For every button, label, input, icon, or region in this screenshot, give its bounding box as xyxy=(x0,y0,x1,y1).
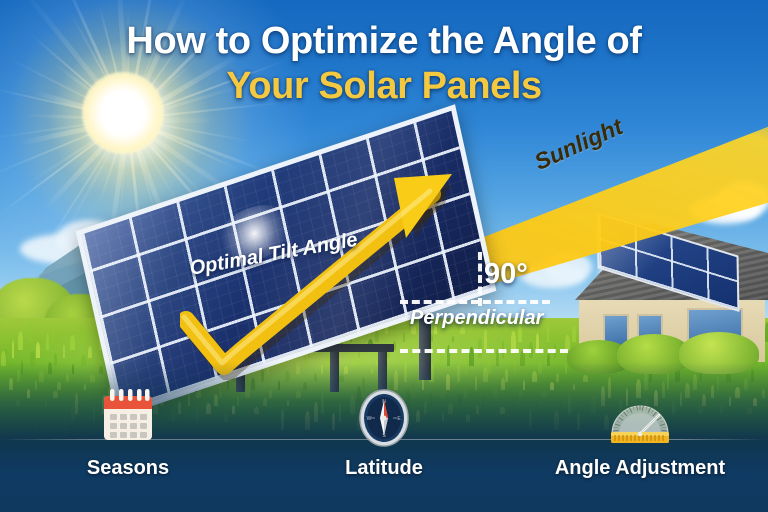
vertical-dashed-line xyxy=(478,252,482,306)
calendar-icon xyxy=(95,388,161,448)
svg-text:W: W xyxy=(367,416,372,422)
horizontal-dashed-line-upper xyxy=(400,300,550,304)
perpendicular-label: Perpendicular xyxy=(410,307,543,330)
title-line-2: Your Solar Panels xyxy=(0,67,768,107)
feature-label: Seasons xyxy=(87,457,169,480)
angle-degree-label: 90° xyxy=(484,258,528,291)
feature-latitude[interactable]: NS WE Latitude xyxy=(256,388,512,512)
protractor-icon xyxy=(607,388,673,448)
feature-list: Seasons NS WE xyxy=(0,382,768,512)
feature-label: Angle Adjustment xyxy=(555,457,725,480)
title-line-1: How to Optimize the Angle of xyxy=(0,22,768,62)
feature-angle-adjustment[interactable]: Angle Adjustment xyxy=(512,388,768,512)
feature-label: Latitude xyxy=(345,457,423,480)
feature-seasons[interactable]: Seasons xyxy=(0,388,256,512)
infographic-canvas: Sunlight Optimal Tilt xyxy=(0,0,768,512)
page-title: How to Optimize the Angle of Your Solar … xyxy=(0,22,768,107)
horizontal-dashed-line-lower xyxy=(400,349,568,353)
compass-icon: NS WE xyxy=(351,388,417,448)
